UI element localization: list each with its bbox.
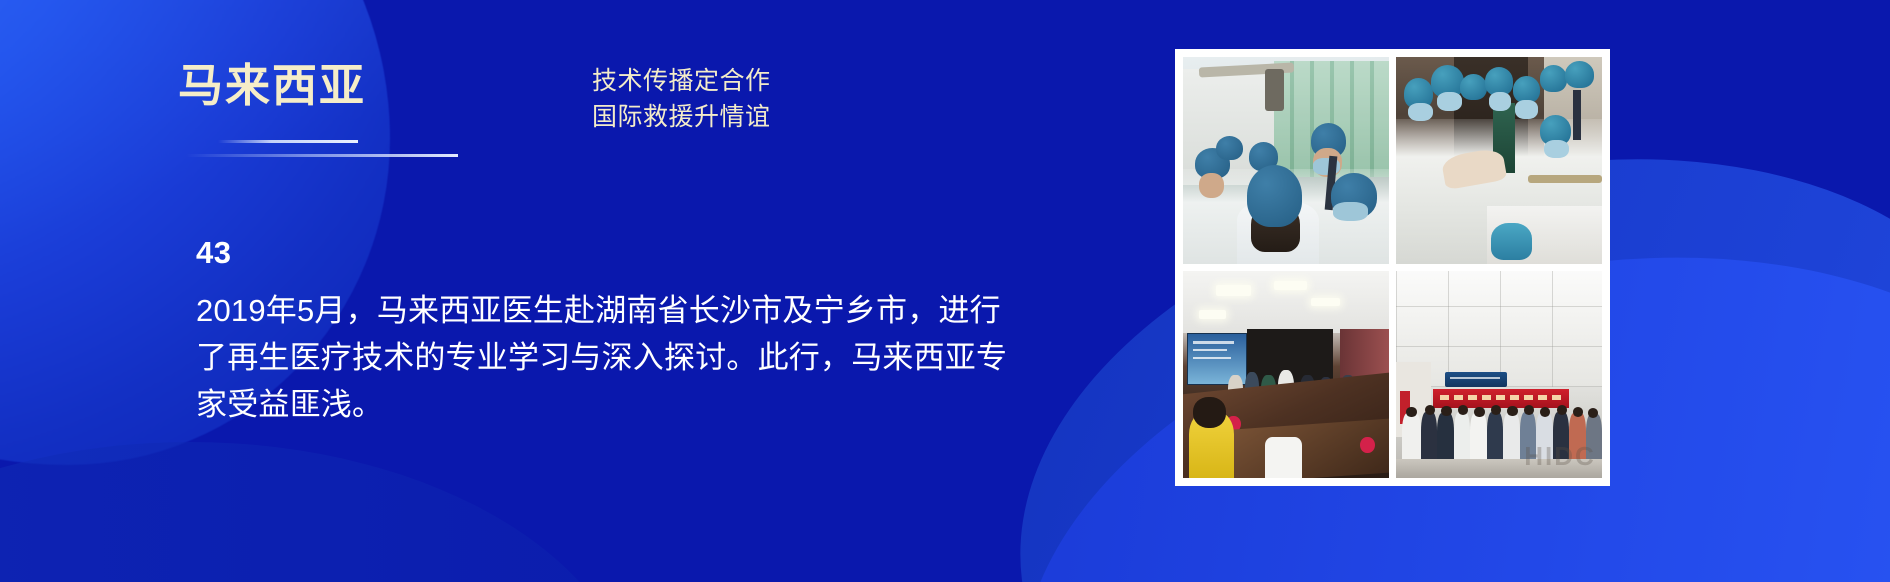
body-block: 43 2019年5月，马来西亚医生赴湖南省长沙市及宁乡市，进行了再生医疗技术的专… [196,235,1016,428]
page-title: 马来西亚 [178,62,598,111]
photo-2-surgical-mask [1515,100,1538,119]
photo-2-surgical-cap [1460,74,1487,101]
photo-4-person-head [1441,406,1451,416]
subtitle-block: 技术传播定合作 国际救援升情谊 [592,64,771,135]
photo-3-ceiling-light [1311,298,1340,306]
title-block: 马来西亚 [178,62,598,111]
text-column: 马来西亚 技术传播定合作 国际救援升情谊 43 2019年5月，马来西亚医生赴湖… [0,0,1120,582]
photo-3-foreground-person-hair [1193,397,1226,428]
photo-2-bedside-demonstration [1396,57,1602,264]
subtitle-line-1: 技术传播定合作 [592,64,771,100]
photo-4-group-photo: HIDC [1396,271,1602,478]
photo-3-ceiling [1183,271,1389,333]
photo-3-flower-arrangement [1360,437,1374,454]
photo-3-ceiling-light [1199,310,1226,318]
photo-1-surgical-mask [1333,202,1368,221]
photo-2-surgical-mask [1544,140,1569,159]
photo-2-surgical-mask [1437,92,1462,111]
photo-1-exam-lamp-head [1265,69,1284,110]
title-underline-secondary [186,154,458,157]
photo-4-watermark: HIDC [1524,441,1596,472]
photo-collage-frame: HIDC [1175,49,1610,486]
photo-3-ceiling-light [1216,285,1251,295]
photo-4-person-head [1524,405,1534,415]
photo-4-person-head [1474,407,1484,417]
photo-1-surgical-cap [1216,136,1243,161]
photo-2-bed-rail [1528,175,1602,183]
body-paragraph: 2019年5月，马来西亚医生赴湖南省长沙市及宁乡市，进行了再生医疗技术的专业学习… [196,287,1016,428]
photo-2-patient-drape [1491,223,1532,260]
photo-4-person-head [1491,405,1501,415]
photo-3-ceiling-light [1274,281,1307,289]
photo-3-foreground-attendee [1265,437,1302,478]
subtitle-line-2: 国际救援升情谊 [592,100,771,136]
photo-4-person-head [1557,405,1567,415]
photo-4-person-head [1406,407,1416,417]
photo-2-surgical-cap [1540,65,1567,92]
photo-2-necktie [1573,90,1581,140]
photo-4-person-head [1458,405,1468,415]
photo-2-surgical-cap [1513,76,1540,103]
photo-2-surgical-cap [1565,61,1594,88]
photo-2-surgical-mask [1489,92,1512,111]
title-underline-primary [218,140,358,143]
photo-4-person-head [1507,406,1517,416]
photo-4-wall-sign [1445,372,1507,386]
item-number: 43 [196,235,1016,271]
photo-3-conference-meeting [1183,271,1389,478]
photo-2-surgical-mask [1408,103,1433,122]
photo-1-face [1199,173,1224,198]
photo-4-person-head [1425,405,1435,415]
photo-4-person-head [1588,408,1598,418]
presentation-slide: 马来西亚 技术传播定合作 国际救援升情谊 43 2019年5月，马来西亚医生赴湖… [0,0,1890,582]
photo-1-clinical-demo [1183,57,1389,264]
photo-1-surgical-cap [1247,165,1303,227]
